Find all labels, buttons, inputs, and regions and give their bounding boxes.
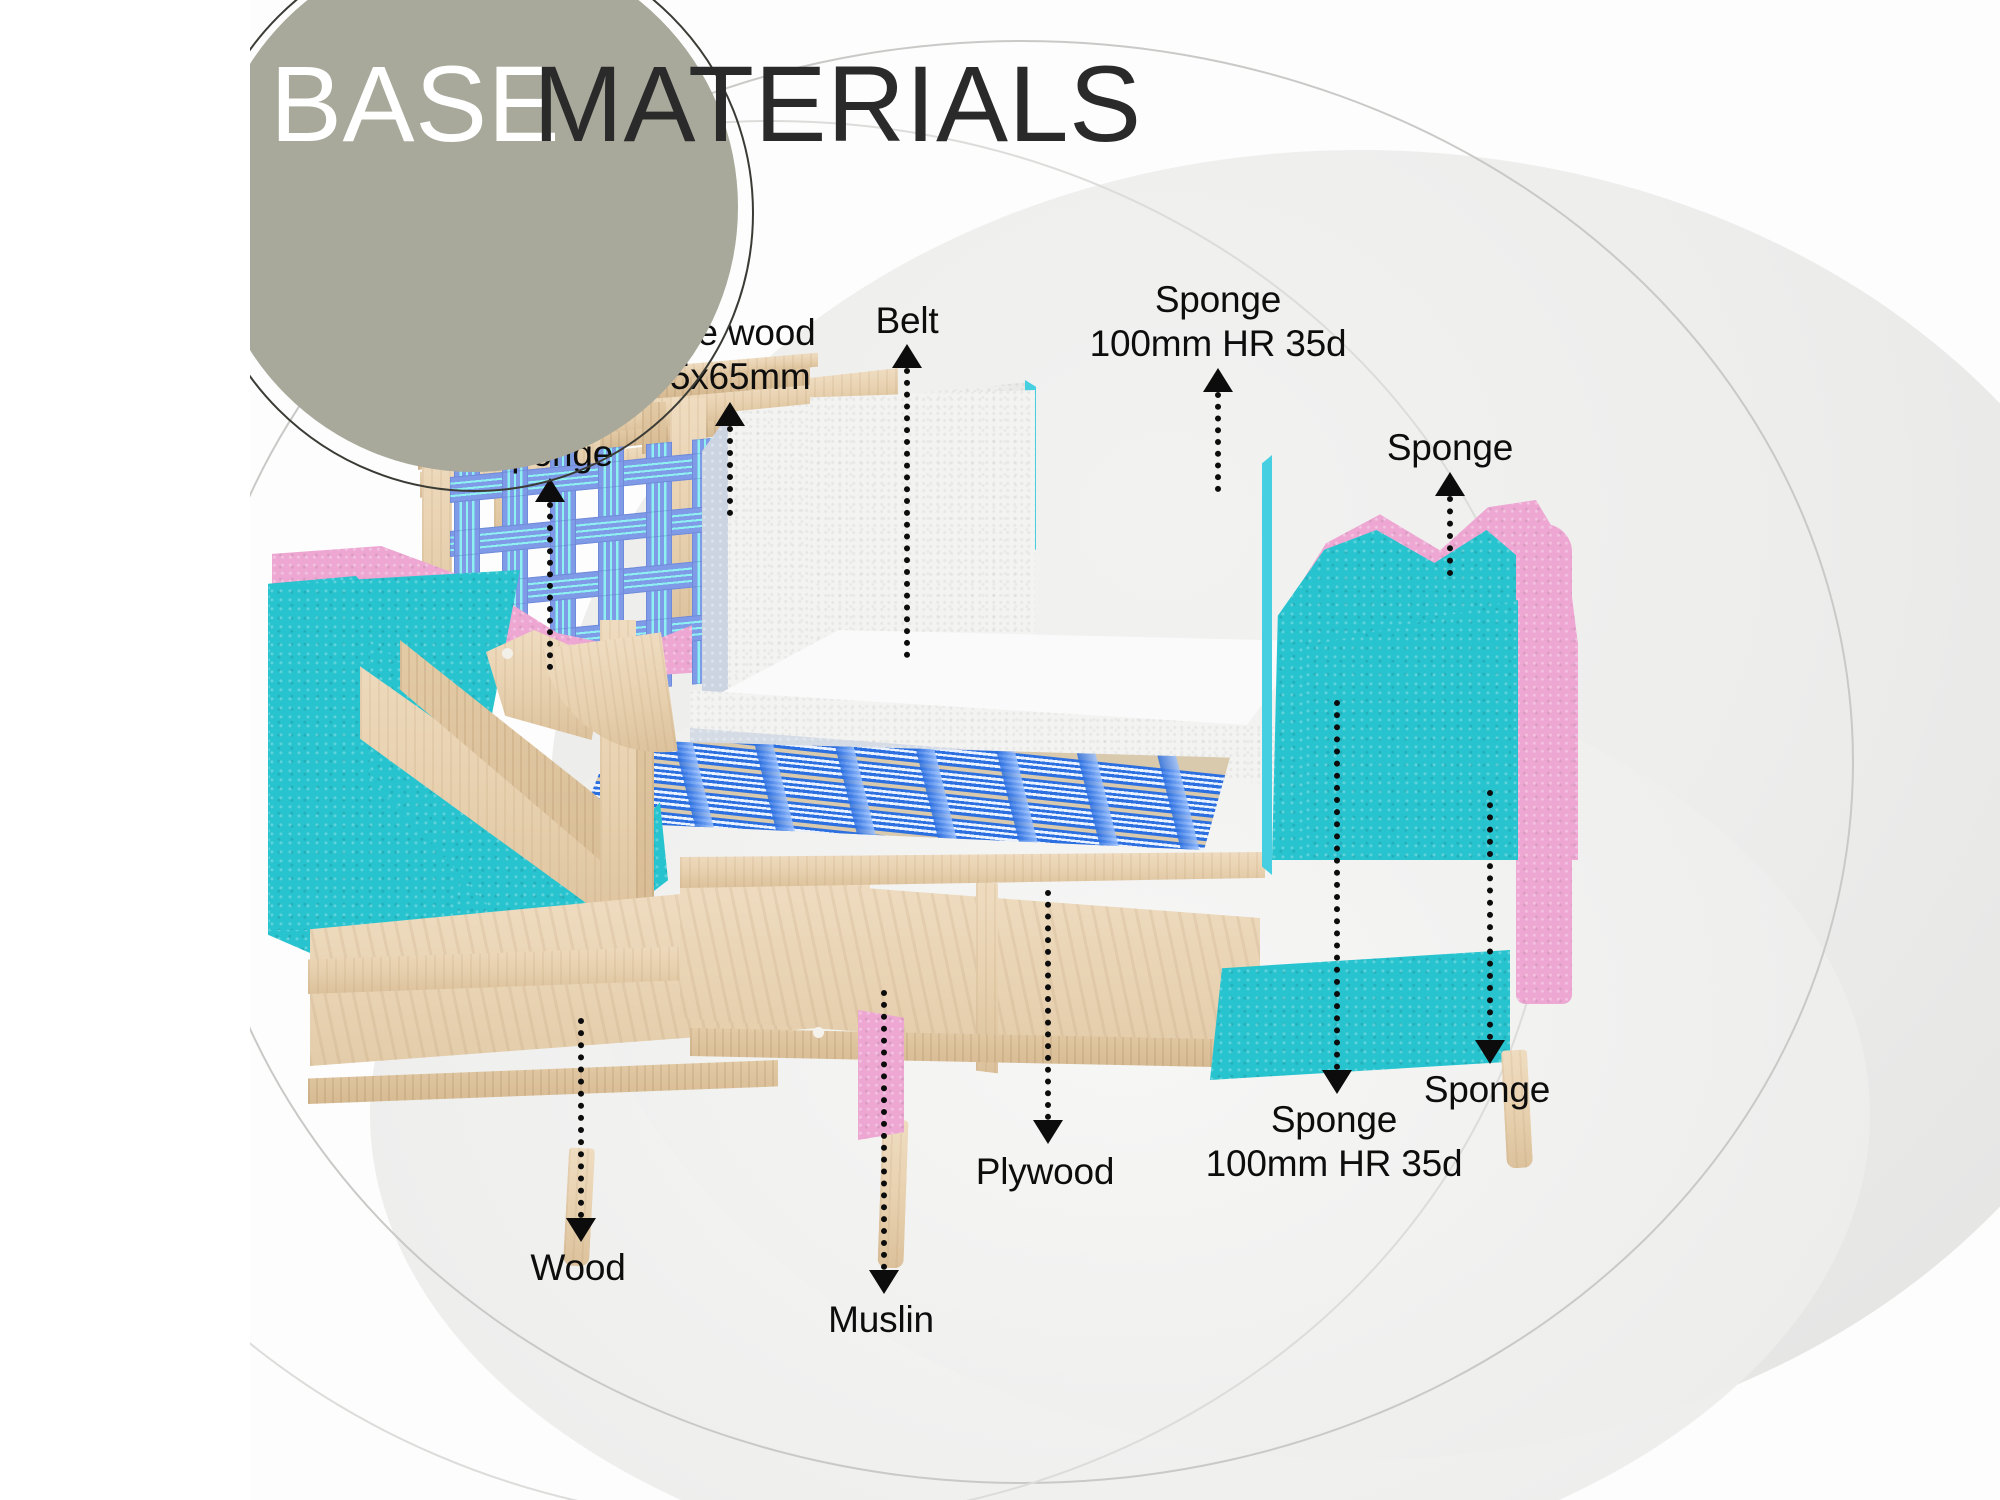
right-base-sponge-teal: [1210, 950, 1510, 1080]
base-top-rail-mid: [680, 852, 1265, 888]
callout-label-plywood: Plywood: [976, 1150, 1114, 1194]
header: BASE MATERIALS: [0, 0, 2000, 200]
seat-webbing-deck: [580, 740, 1230, 850]
arrow-head-down-plywood: [1033, 1120, 1063, 1144]
infographic-canvas: Sponge Pine wood 35x65mm Belt Sponge 100…: [0, 0, 2000, 1500]
page-title-highlight: BASE: [270, 50, 560, 158]
arrow-head-up-sponge-right-arm: [1435, 472, 1465, 496]
callout-label-belt: Belt: [876, 299, 939, 343]
leader-line-sponge-seat-cushion: [1334, 700, 1340, 1070]
callout-label-muslin: Muslin: [828, 1298, 934, 1342]
callout-label-sponge-right-arm: Sponge: [1387, 426, 1513, 470]
leader-line-muslin: [881, 990, 887, 1270]
right-arm-teal-edge-line: [1262, 455, 1272, 875]
leader-line-sponge-right-base: [1487, 790, 1493, 1040]
page-title-main: MATERIALS: [533, 50, 1142, 158]
arrow-head-up-belt: [892, 344, 922, 368]
screw-dot-2: [813, 1027, 824, 1038]
arrow-head-down-sponge-seat-cushion: [1322, 1070, 1352, 1094]
leader-line-belt: [904, 368, 910, 658]
leader-line-sponge-left-arm: [547, 502, 553, 670]
callout-label-sponge-right-base: Sponge: [1424, 1068, 1550, 1112]
leader-line-sponge-right-arm: [1447, 496, 1453, 576]
callout-label-wood: Wood: [530, 1246, 625, 1290]
leader-line-plywood: [1045, 890, 1051, 1120]
leader-line-pine-wood: [727, 426, 733, 516]
base-bottom-rail-left: [308, 1060, 778, 1104]
screw-dot-1: [502, 648, 513, 659]
leader-line-sponge-back-cushion: [1215, 392, 1221, 492]
leader-line-wood: [578, 1018, 584, 1218]
arrow-head-up-sponge-back-cushion: [1203, 368, 1233, 392]
right-arm-outer-pink-roll: [1516, 524, 1572, 1004]
arrow-head-down-muslin: [869, 1270, 899, 1294]
left-gutter: [0, 0, 250, 1500]
arrow-head-down-wood: [566, 1218, 596, 1242]
arrow-head-down-sponge-right-base: [1475, 1040, 1505, 1064]
callout-label-sponge-back-cushion: Sponge 100mm HR 35d: [1090, 278, 1347, 365]
arrow-head-up-pine-wood: [715, 402, 745, 426]
